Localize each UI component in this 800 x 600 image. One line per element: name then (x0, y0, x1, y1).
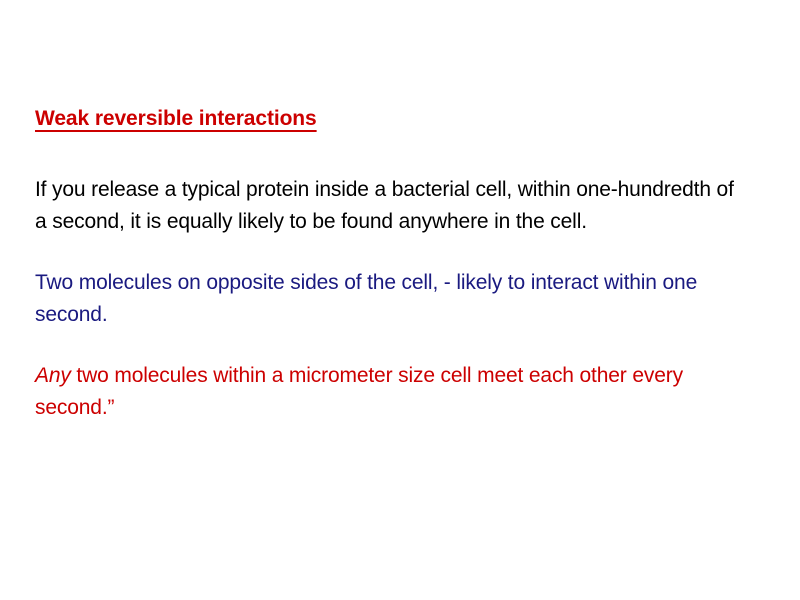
paragraph-protein-release: If you release a typical protein inside … (35, 174, 747, 238)
paragraph-any-two-molecules: Any two molecules within a micrometer si… (35, 360, 747, 424)
page-title: Weak reversible interactions (35, 104, 747, 134)
slide-canvas: Weak reversible interactions If you rele… (0, 0, 800, 600)
paragraph-two-molecules-opposite-sides: Two molecules on opposite sides of the c… (35, 267, 747, 331)
emphasis-any: Any (35, 364, 71, 387)
paragraph-any-two-molecules-rest: two molecules within a micrometer size c… (35, 364, 683, 419)
slide-content: Weak reversible interactions If you rele… (35, 104, 747, 424)
